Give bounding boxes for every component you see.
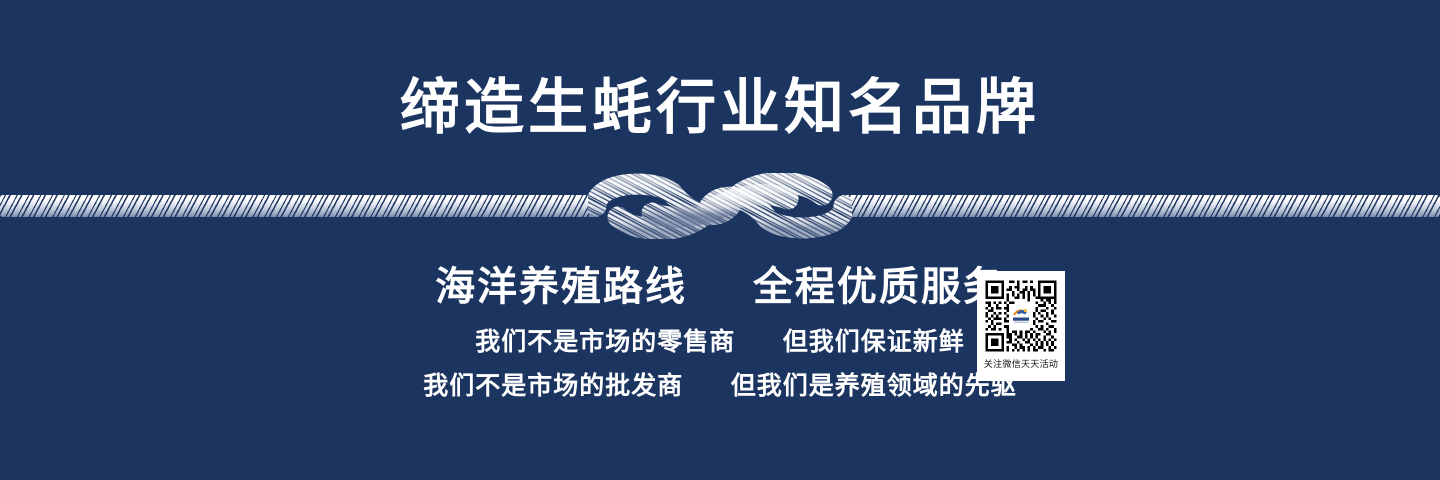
tagline-1-left: 我们不是市场的零售商	[475, 327, 735, 356]
subheading-right: 全程优质服务	[753, 264, 1005, 310]
rope-knot-divider	[0, 173, 1440, 239]
tagline-2-left: 我们不是市场的批发商	[423, 371, 683, 400]
qr-caption: 关注微信天天活动	[984, 357, 1058, 370]
rope-segment-right	[840, 195, 1440, 217]
page-title: 缔造生蚝行业知名品牌	[0, 72, 1440, 144]
subheading-left: 海洋养殖路线	[435, 264, 687, 310]
rope-texture-right	[840, 195, 1440, 217]
qr-card[interactable]: 关注微信天天活动	[977, 271, 1065, 381]
tagline-2-right: 但我们是养殖领域的先驱	[731, 371, 1017, 400]
promo-banner: 缔造生蚝行业知名品牌	[0, 0, 1440, 480]
tagline-1-right: 但我们保证新鲜	[783, 327, 965, 356]
rope-knot-icon	[588, 173, 852, 239]
qr-center-logo	[1009, 304, 1033, 328]
rope-texture-left	[0, 195, 600, 217]
tagline-row-2: 我们不是市场的批发商 但我们是养殖领域的先驱	[0, 366, 1440, 402]
tagline-row-1: 我们不是市场的零售商 但我们保证新鲜	[0, 322, 1440, 358]
rope-segment-left	[0, 195, 600, 217]
subheading: 海洋养殖路线 全程优质服务	[0, 263, 1440, 311]
qr-code-icon[interactable]	[983, 278, 1059, 354]
